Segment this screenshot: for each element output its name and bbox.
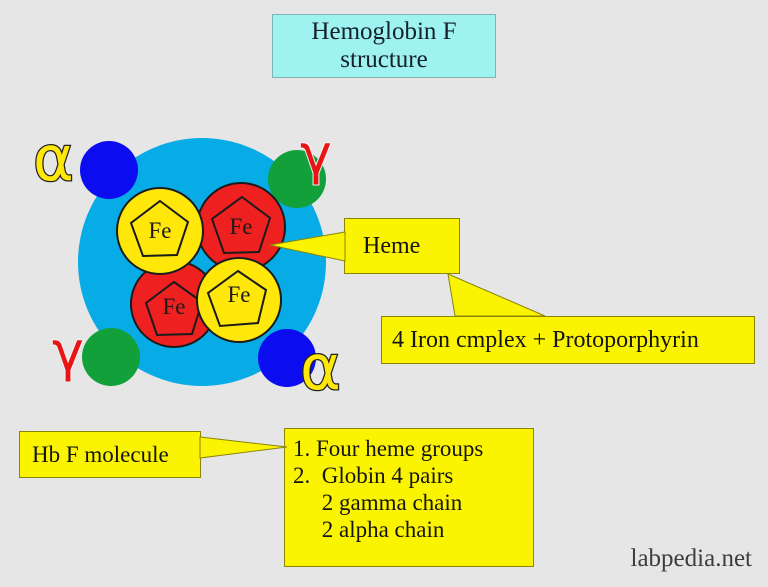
- fe-label-bottom-right: Fe: [198, 282, 280, 308]
- chain-label-gamma-bottom-left: γ: [52, 325, 84, 379]
- heme-callout-label: Heme: [363, 233, 420, 260]
- heme-bottom-right: Fe: [196, 257, 282, 343]
- fe-label-top-left: Fe: [118, 218, 202, 244]
- hemoglobin-molecule: Fe Fe Fe Fe α γ γ α: [0, 110, 380, 410]
- heme-callout-box: Heme: [344, 218, 460, 274]
- title-line-2: structure: [340, 46, 427, 74]
- hbf-pointer-tail: [200, 437, 287, 458]
- hbf-callout-label: Hb F molecule: [32, 442, 169, 468]
- iron-pointer-tail: [448, 274, 545, 316]
- heme-top-left: Fe: [116, 187, 204, 275]
- chain-label-gamma-top-right: γ: [300, 128, 332, 182]
- chain-label-alpha-bottom-right: α: [300, 337, 341, 399]
- title-line-1: Hemoglobin F: [311, 18, 456, 46]
- list-item: 2 alpha chain: [293, 516, 533, 543]
- list-item: 1. Four heme groups: [293, 435, 533, 462]
- chain-label-alpha-top-left: α: [33, 128, 74, 190]
- watermark: labpedia.net: [631, 545, 752, 573]
- composition-list-box: 1. Four heme groups 2. Globin 4 pairs 2 …: [284, 428, 534, 567]
- iron-callout-label: 4 Iron cmplex + Protoporphyrin: [392, 327, 699, 354]
- iron-complex-callout-box: 4 Iron cmplex + Protoporphyrin: [381, 316, 755, 364]
- list-item: 2 gamma chain: [293, 489, 533, 516]
- title-box: Hemoglobin F structure: [272, 14, 496, 78]
- diagram-canvas: Hemoglobin F structure Fe Fe Fe: [0, 0, 768, 587]
- fe-label-top-right: Fe: [198, 214, 284, 240]
- hbf-molecule-callout-box: Hb F molecule: [19, 431, 201, 478]
- list-item: 2. Globin 4 pairs: [293, 462, 533, 489]
